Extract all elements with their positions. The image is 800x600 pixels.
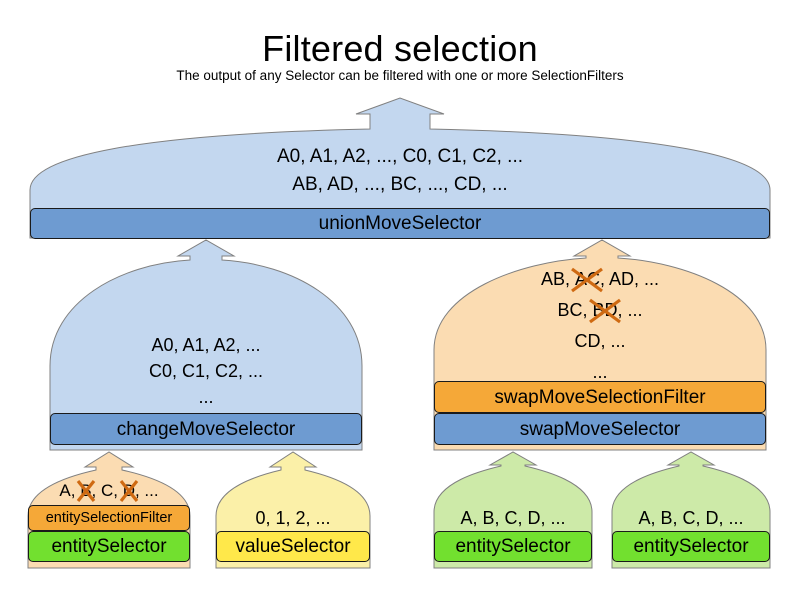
bar-entity-selector-swap-left[interactable]: entitySelector xyxy=(434,531,592,562)
node-value-selector[interactable]: 0, 1, 2, ... valueSelector xyxy=(210,452,376,570)
bar-label: entitySelector xyxy=(455,537,570,556)
page-title: Filtered selection xyxy=(0,28,800,70)
node-union-move-selector[interactable]: A0, A1, A2, ..., C0, C1, C2, ... AB, AD,… xyxy=(30,98,770,240)
bar-label: entitySelector xyxy=(633,537,748,556)
bar-entity-selector-swap-right[interactable]: entitySelector xyxy=(612,531,770,562)
node-swap-move-selector[interactable]: AB, AC, AD, ... BC, BD, ... CD, ... ... … xyxy=(430,240,770,452)
bar-entity-selector-filtered[interactable]: entitySelector xyxy=(28,531,190,562)
node-entity-selector-swap-left[interactable]: A, B, C, D, ... entitySelector xyxy=(430,452,596,570)
bar-label: unionMoveSelector xyxy=(319,214,482,233)
node-change-move-selector[interactable]: A0, A1, A2, ... C0, C1, C2, ... ... chan… xyxy=(40,240,372,452)
bar-change-move-selector[interactable]: changeMoveSelector xyxy=(50,413,362,445)
diagram-canvas: Filtered selection The output of any Sel… xyxy=(0,0,800,600)
bar-label: swapMoveSelectionFilter xyxy=(494,388,705,407)
bar-swap-move-selection-filter[interactable]: swapMoveSelectionFilter xyxy=(434,381,766,413)
bar-label: changeMoveSelector xyxy=(117,420,296,439)
bar-label: entitySelector xyxy=(51,537,166,556)
bar-label: valueSelector xyxy=(235,537,350,556)
node-entity-selector-swap-right[interactable]: A, B, C, D, ... entitySelector xyxy=(608,452,774,570)
bar-entity-selection-filter[interactable]: entitySelectionFilter xyxy=(28,505,190,531)
bar-value-selector[interactable]: valueSelector xyxy=(216,531,370,562)
bar-union-move-selector[interactable]: unionMoveSelector xyxy=(30,208,770,239)
bar-label: swapMoveSelector xyxy=(520,420,681,439)
node-entity-selector-filtered[interactable]: A, B, C, D, ... entitySelectionFilter en… xyxy=(22,452,196,570)
page-subtitle: The output of any Selector can be filter… xyxy=(0,68,800,84)
bar-swap-move-selector[interactable]: swapMoveSelector xyxy=(434,413,766,445)
bar-label: entitySelectionFilter xyxy=(46,511,173,526)
